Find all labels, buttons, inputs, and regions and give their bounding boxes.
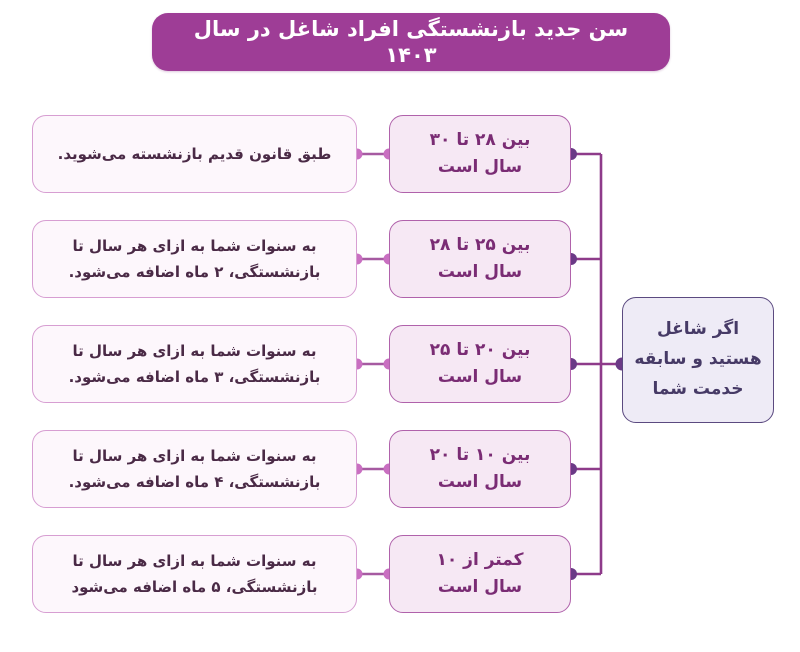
range-box: بین ۲۰ تا ۲۵ سال است — [389, 325, 571, 403]
range-box: کمتر از ۱۰ سال است — [389, 535, 571, 613]
range-text: بین ۲۵ تا ۲۸ سال است — [400, 232, 560, 286]
description-text: به سنوات شما به ازای هر سال تا بازنشستگی… — [49, 233, 340, 286]
range-line-1: بین ۱۰ تا ۲۰ — [400, 442, 560, 469]
description-box: به سنوات شما به ازای هر سال تا بازنشستگی… — [32, 220, 357, 298]
description-line-2: بازنشستگی، ۳ ماه اضافه می‌شود. — [49, 364, 340, 390]
description-line-1: طبق قانون قدیم بازنشسته می‌شوید. — [49, 141, 340, 167]
range-box: بین ۱۰ تا ۲۰ سال است — [389, 430, 571, 508]
range-line-2: سال است — [400, 364, 560, 391]
range-text: بین ۲۸ تا ۳۰ سال است — [400, 127, 560, 181]
range-line-1: بین ۲۵ تا ۲۸ — [400, 232, 560, 259]
description-line-1: به سنوات شما به ازای هر سال تا — [49, 548, 340, 574]
branch-row: به سنوات شما به ازای هر سال تا بازنشستگی… — [0, 220, 800, 298]
description-line-2: بازنشستگی، ۵ ماه اضافه می‌شود — [49, 574, 340, 600]
range-line-2: سال است — [400, 574, 560, 601]
title-banner: سن جدید بازنشستگی افراد شاغل در سال ۱۴۰۳ — [152, 13, 670, 71]
description-box: به سنوات شما به ازای هر سال تا بازنشستگی… — [32, 535, 357, 613]
root-line-1: اگر شاغل — [633, 315, 763, 345]
description-text: به سنوات شما به ازای هر سال تا بازنشستگی… — [49, 548, 340, 601]
range-line-2: سال است — [400, 259, 560, 286]
range-box: بین ۲۸ تا ۳۰ سال است — [389, 115, 571, 193]
description-box: به سنوات شما به ازای هر سال تا بازنشستگی… — [32, 430, 357, 508]
description-box: به سنوات شما به ازای هر سال تا بازنشستگی… — [32, 325, 357, 403]
range-text: بین ۲۰ تا ۲۵ سال است — [400, 337, 560, 391]
description-box: طبق قانون قدیم بازنشسته می‌شوید. — [32, 115, 357, 193]
description-line-1: به سنوات شما به ازای هر سال تا — [49, 233, 340, 259]
description-text: به سنوات شما به ازای هر سال تا بازنشستگی… — [49, 338, 340, 391]
root-node-text: اگر شاغل هستید و سابقه خدمت شما — [633, 315, 763, 404]
range-line-1: بین ۲۸ تا ۳۰ — [400, 127, 560, 154]
page-title: سن جدید بازنشستگی افراد شاغل در سال ۱۴۰۳ — [152, 13, 670, 71]
range-text: بین ۱۰ تا ۲۰ سال است — [400, 442, 560, 496]
range-box: بین ۲۵ تا ۲۸ سال است — [389, 220, 571, 298]
description-text: به سنوات شما به ازای هر سال تا بازنشستگی… — [49, 443, 340, 496]
description-text: طبق قانون قدیم بازنشسته می‌شوید. — [49, 141, 340, 167]
infographic-canvas: سن جدید بازنشستگی افراد شاغل در سال ۱۴۰۳ — [0, 0, 800, 652]
range-line-1: بین ۲۰ تا ۲۵ — [400, 337, 560, 364]
branch-row: به سنوات شما به ازای هر سال تا بازنشستگی… — [0, 535, 800, 613]
range-line-2: سال است — [400, 154, 560, 181]
root-node-box: اگر شاغل هستید و سابقه خدمت شما — [622, 297, 774, 423]
branch-row: به سنوات شما به ازای هر سال تا بازنشستگی… — [0, 430, 800, 508]
description-line-2: بازنشستگی، ۴ ماه اضافه می‌شود. — [49, 469, 340, 495]
description-line-1: به سنوات شما به ازای هر سال تا — [49, 338, 340, 364]
description-line-2: بازنشستگی، ۲ ماه اضافه می‌شود. — [49, 259, 340, 285]
branch-row: طبق قانون قدیم بازنشسته می‌شوید. بین ۲۸ … — [0, 115, 800, 193]
range-line-2: سال است — [400, 469, 560, 496]
range-text: کمتر از ۱۰ سال است — [400, 547, 560, 601]
description-line-1: به سنوات شما به ازای هر سال تا — [49, 443, 340, 469]
root-line-3: خدمت شما — [633, 375, 763, 405]
root-line-2: هستید و سابقه — [633, 345, 763, 375]
range-line-1: کمتر از ۱۰ — [400, 547, 560, 574]
